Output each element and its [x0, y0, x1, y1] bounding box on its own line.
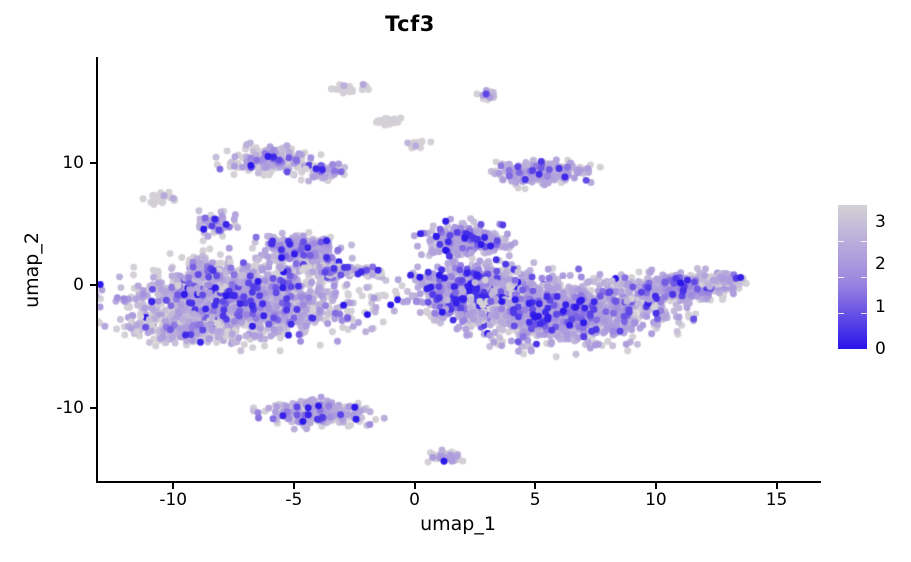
colorbar-tick-mark: [861, 313, 867, 314]
y-tick-label: 10: [62, 153, 84, 173]
x-tick-label: -10: [159, 490, 187, 510]
colorbar-label: 2: [875, 254, 886, 274]
colorbar-tick-mark: [861, 241, 867, 242]
x-tick-label: 10: [645, 490, 667, 510]
umap-feature-plot-figure: Tcf3 -10-5051015 100-10 umap_1 umap_2 32…: [0, 0, 911, 562]
colorbar-gradient: [838, 205, 867, 349]
colorbar: [838, 205, 867, 349]
x-tick-label: 5: [530, 490, 541, 510]
colorbar-label: 0: [875, 339, 886, 359]
y-tick-label: -10: [56, 398, 84, 418]
colorbar-label: 1: [875, 297, 886, 317]
colorbar-tick-mark: [838, 313, 844, 314]
scatter-plot-canvas: [96, 57, 820, 482]
page-title: Tcf3: [0, 12, 820, 36]
x-tick-mark: [414, 483, 416, 489]
y-tick-label: 0: [73, 275, 84, 295]
y-axis-spine: [96, 57, 98, 483]
x-axis-label: umap_1: [96, 513, 820, 535]
x-tick-label: -5: [285, 490, 302, 510]
y-tick-mark: [90, 162, 96, 164]
x-axis-spine: [96, 481, 821, 483]
x-tick-mark: [172, 483, 174, 489]
x-tick-label: 15: [766, 490, 788, 510]
y-tick-mark: [90, 284, 96, 286]
colorbar-tick-mark: [838, 241, 844, 242]
x-tick-label: 0: [409, 490, 420, 510]
x-tick-mark: [534, 483, 536, 489]
x-tick-mark: [655, 483, 657, 489]
x-tick-mark: [776, 483, 778, 489]
colorbar-tick-mark: [838, 277, 844, 278]
x-tick-mark: [293, 483, 295, 489]
colorbar-tick-mark: [861, 277, 867, 278]
y-axis-label: umap_2: [21, 232, 43, 308]
colorbar-label: 3: [875, 212, 886, 232]
y-tick-mark: [90, 407, 96, 409]
